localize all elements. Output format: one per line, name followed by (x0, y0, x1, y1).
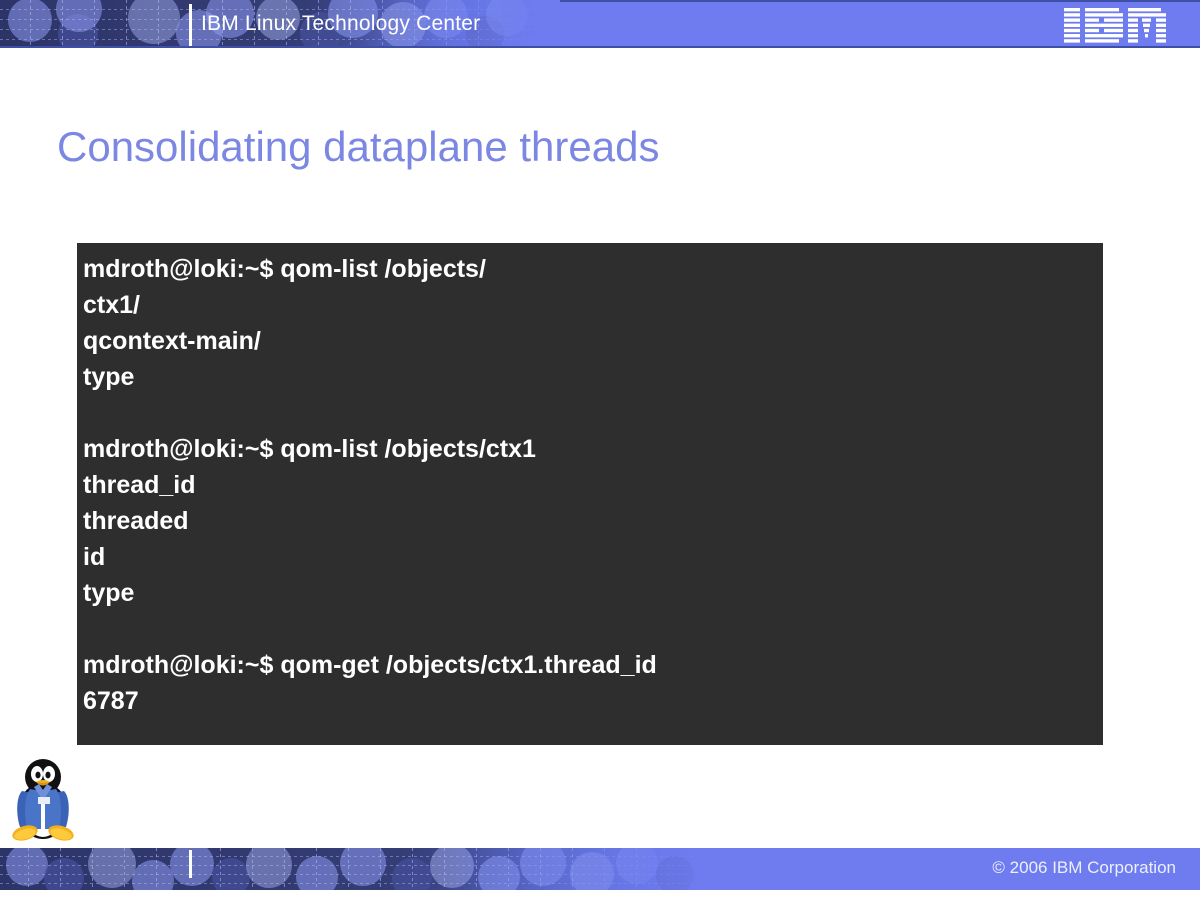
pattern-circle (296, 856, 338, 890)
terminal-line: type (80, 359, 1103, 395)
pattern-circle (430, 848, 474, 888)
terminal-line: threaded (80, 503, 1103, 539)
pattern-fade (0, 848, 730, 890)
pattern-base (0, 848, 730, 890)
pattern-circle (656, 856, 694, 890)
footer-decorative-pattern (0, 848, 730, 890)
ibm-logo-icon (1064, 6, 1176, 44)
pattern-circle (132, 860, 174, 890)
terminal-line: type (80, 575, 1103, 611)
header-divider-tick (189, 4, 192, 46)
pattern-circle (486, 0, 528, 36)
terminal-line: thread_id (80, 467, 1103, 503)
terminal-line: mdroth@loki:~$ qom-list /objects/ctx1 (80, 431, 1103, 467)
terminal-line: id (80, 539, 1103, 575)
terminal-line-blank (80, 611, 1103, 647)
pattern-circle (88, 848, 136, 888)
pattern-gridline (92, 848, 93, 890)
header-bottom-edge (0, 46, 1200, 48)
terminal-line: mdroth@loki:~$ qom-get /objects/ctx1.thr… (80, 647, 1103, 683)
pattern-circle (56, 0, 102, 32)
pattern-gridline (0, 39, 560, 40)
pattern-gridline (380, 848, 381, 890)
pattern-gridline (126, 0, 127, 48)
pattern-gridline (0, 883, 730, 884)
page-title: Consolidating dataplane threads (57, 123, 659, 171)
terminal-line: ctx1/ (80, 287, 1103, 323)
pattern-circle (392, 858, 432, 890)
pattern-gridline (252, 848, 253, 890)
pattern-gridline (158, 0, 159, 48)
pattern-gridline (572, 848, 573, 890)
pattern-gridline (94, 0, 95, 48)
pattern-circle (520, 848, 566, 886)
pattern-gridline (444, 848, 445, 890)
pattern-circle (246, 848, 292, 888)
footer-divider-tick (189, 850, 192, 878)
pattern-circle (8, 0, 52, 42)
pattern-circle (478, 856, 520, 890)
terminal-line: mdroth@loki:~$ qom-list /objects/ (80, 251, 1103, 287)
footer-copyright: © 2006 IBM Corporation (992, 858, 1176, 878)
pattern-gridline (60, 848, 61, 890)
pattern-gridline (508, 848, 509, 890)
pattern-circle (6, 848, 48, 886)
pattern-gridline (604, 848, 605, 890)
terminal-line: 6787 (80, 683, 1103, 719)
tux-penguin-icon (8, 757, 78, 843)
pattern-gridline (28, 848, 29, 890)
pattern-circle (616, 848, 658, 884)
pattern-gridline (0, 9, 560, 10)
pattern-gridline (540, 848, 541, 890)
pattern-gridline (348, 848, 349, 890)
pattern-gridline (124, 848, 125, 890)
pattern-gridline (30, 0, 31, 48)
pattern-gridline (316, 848, 317, 890)
pattern-gridline (0, 874, 730, 875)
header-top-edge (0, 0, 1200, 2)
pattern-gridline (636, 848, 637, 890)
pattern-gridline (0, 856, 730, 857)
pattern-gridline (284, 848, 285, 890)
terminal-output-block: mdroth@loki:~$ qom-list /objects/ ctx1/ … (77, 243, 1103, 745)
pattern-circle (44, 858, 84, 890)
pattern-circle (212, 858, 250, 890)
header-title: IBM Linux Technology Center (201, 12, 480, 36)
pattern-circle (58, 14, 98, 48)
terminal-line: qcontext-main/ (80, 323, 1103, 359)
pattern-circle (170, 848, 214, 886)
header-band: IBM Linux Technology Center (0, 0, 1200, 48)
bottom-white-margin (0, 890, 1200, 900)
pattern-circle (340, 848, 386, 886)
pattern-circle (570, 852, 614, 890)
pattern-gridline (156, 848, 157, 890)
pattern-circle (128, 0, 180, 44)
pattern-gridline (476, 848, 477, 890)
footer-band: © 2006 IBM Corporation (0, 848, 1200, 890)
pattern-gridline (412, 848, 413, 890)
terminal-line-blank (80, 395, 1103, 431)
pattern-gridline (0, 865, 730, 866)
pattern-gridline (62, 0, 63, 48)
pattern-gridline (220, 848, 221, 890)
